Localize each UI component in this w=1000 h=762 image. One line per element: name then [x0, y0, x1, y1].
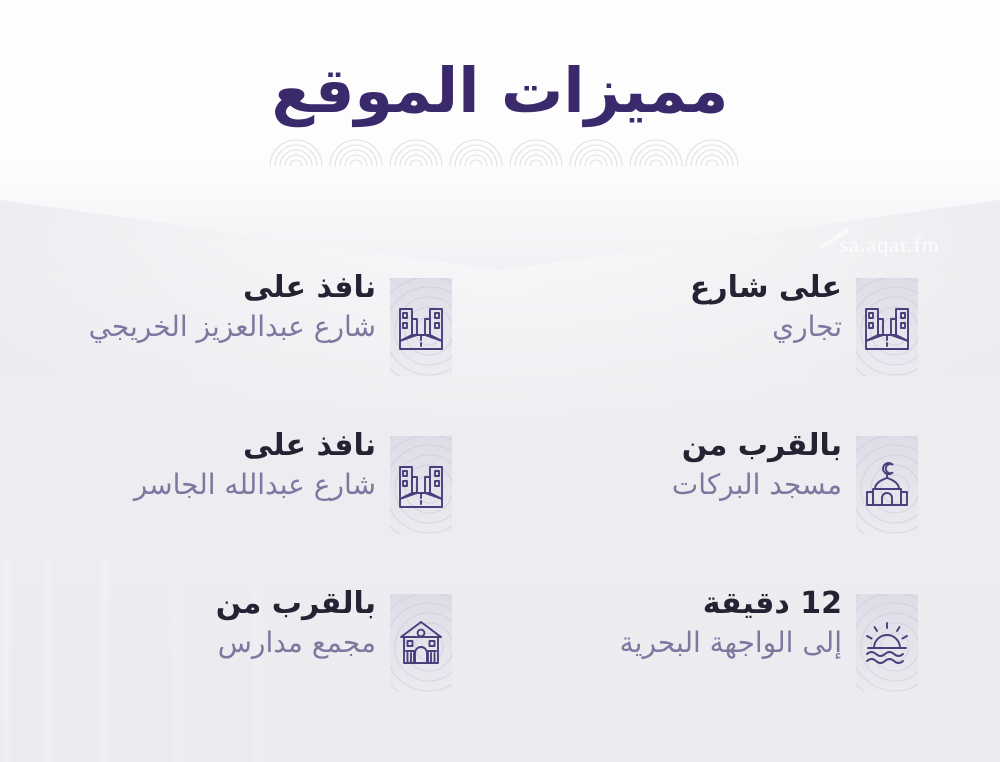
feature-item: بالقرب من مسجد البركات	[540, 420, 1000, 534]
features-grid: على شارع تجاري	[0, 262, 1000, 738]
title-block: مميزات الموقع	[0, 58, 1000, 123]
icon-panel	[856, 436, 918, 534]
feature-title: نافذ على	[0, 270, 376, 305]
poster-canvas: مميزات الموقع sa.aqar.fm	[0, 0, 1000, 762]
feature-title: بالقرب من	[540, 428, 842, 463]
feature-texts: بالقرب من مسجد البركات	[540, 420, 856, 502]
feature-item: 12 دقيقة إلى الواجهة البحرية	[540, 578, 1000, 692]
feature-item: نافذ على شارع عبدالعزيز الخريجي	[0, 262, 540, 376]
feature-texts: بالقرب من مجمع مدارس	[0, 578, 390, 660]
feature-title: بالقرب من	[0, 586, 376, 621]
feature-row: 12 دقيقة إلى الواجهة البحرية	[0, 578, 1000, 738]
sunset-sea-icon	[862, 617, 912, 669]
feature-row: على شارع تجاري	[0, 262, 1000, 420]
feature-subtitle: إلى الواجهة البحرية	[540, 625, 842, 660]
feature-subtitle: مسجد البركات	[540, 467, 842, 502]
icon-panel	[390, 436, 452, 534]
school-icon	[396, 617, 446, 669]
mosque-icon	[862, 459, 912, 511]
icon-panel	[856, 278, 918, 376]
feature-texts: 12 دقيقة إلى الواجهة البحرية	[540, 578, 856, 660]
feature-subtitle: مجمع مدارس	[0, 625, 376, 660]
feature-item: على شارع تجاري	[540, 262, 1000, 376]
page-title: مميزات الموقع	[0, 58, 1000, 123]
feature-texts: نافذ على شارع عبدالله الجاسر	[0, 420, 390, 502]
street-buildings-icon	[396, 301, 446, 353]
feature-title: نافذ على	[0, 428, 376, 463]
street-buildings-icon	[862, 301, 912, 353]
feature-title: 12 دقيقة	[540, 586, 842, 621]
feature-texts: على شارع تجاري	[540, 262, 856, 344]
icon-panel	[856, 594, 918, 692]
icon-panel	[390, 594, 452, 692]
feature-row: بالقرب من مسجد البركات	[0, 420, 1000, 578]
feature-subtitle: شارع عبدالعزيز الخريجي	[0, 309, 376, 344]
feature-texts: نافذ على شارع عبدالعزيز الخريجي	[0, 262, 390, 344]
feature-subtitle: تجاري	[540, 309, 842, 344]
feature-subtitle: شارع عبدالله الجاسر	[0, 467, 376, 502]
feature-item: بالقرب من مجمع مدارس	[0, 578, 540, 692]
street-buildings-icon	[396, 459, 446, 511]
icon-panel	[390, 278, 452, 376]
feature-item: نافذ على شارع عبدالله الجاسر	[0, 420, 540, 534]
feature-title: على شارع	[540, 270, 842, 305]
